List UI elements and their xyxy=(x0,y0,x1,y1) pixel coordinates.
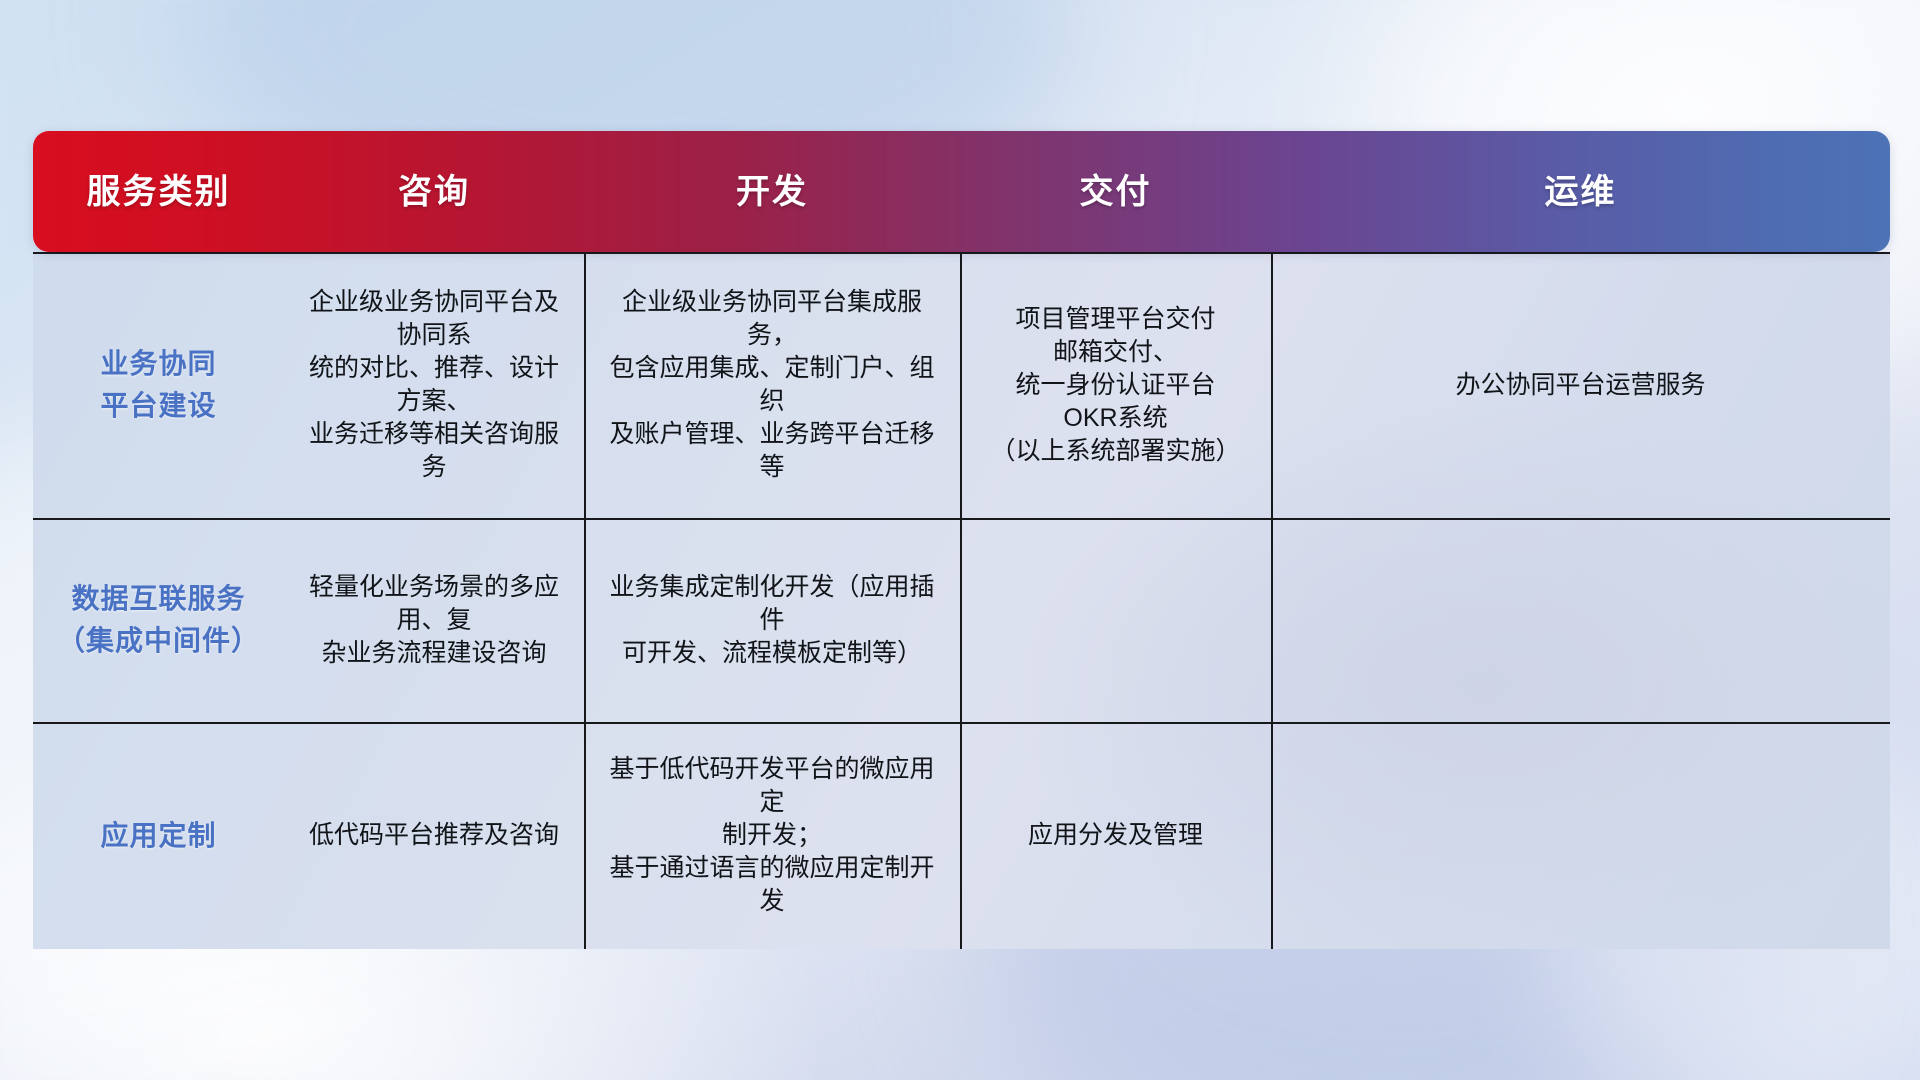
cell-operations: 办公协同平台运营服务 xyxy=(1271,252,1890,518)
table-row: 应用定制 低代码平台推荐及咨询 基于低代码开发平台的微应用定 制开发； 基于通过… xyxy=(33,722,1890,949)
column-header-consulting: 咨询 xyxy=(284,175,584,209)
column-header-development: 开发 xyxy=(584,175,960,209)
cell-development: 企业级业务协同平台集成服务， 包含应用集成、定制门户、组织 及账户管理、业务跨平… xyxy=(584,252,960,518)
cell-consulting: 低代码平台推荐及咨询 xyxy=(284,722,584,949)
category-label: 应用定制 xyxy=(100,815,216,857)
cell-operations xyxy=(1271,722,1890,949)
cell-operations xyxy=(1271,518,1890,722)
column-header-delivery: 交付 xyxy=(960,175,1271,209)
cell-development: 基于低代码开发平台的微应用定 制开发； 基于通过语言的微应用定制开发 xyxy=(584,722,960,949)
table-row: 数据互联服务 （集成中间件） 轻量化业务场景的多应用、复 杂业务流程建设咨询 业… xyxy=(33,518,1890,722)
cell-delivery: 应用分发及管理 xyxy=(960,722,1271,949)
slide-stage: 服务类别 咨询 开发 交付 运维 业务协同 平台建设 企业级业务协同平台及协同系… xyxy=(0,0,1920,1080)
table-body: 业务协同 平台建设 企业级业务协同平台及协同系 统的对比、推荐、设计方案、 业务… xyxy=(33,252,1890,949)
row-category-cell: 应用定制 xyxy=(33,722,284,949)
cell-development: 业务集成定制化开发（应用插件 可开发、流程模板定制等） xyxy=(584,518,960,722)
category-label: 业务协同 平台建设 xyxy=(100,343,216,427)
row-category-cell: 数据互联服务 （集成中间件） xyxy=(33,518,284,722)
column-header-category: 服务类别 xyxy=(33,175,284,209)
cell-delivery: 项目管理平台交付 邮箱交付、 统一身份认证平台 OKR系统 （以上系统部署实施） xyxy=(960,252,1271,518)
row-category-cell: 业务协同 平台建设 xyxy=(33,252,284,518)
column-header-operations: 运维 xyxy=(1271,175,1890,209)
category-label: 数据互联服务 （集成中间件） xyxy=(57,578,260,662)
cell-consulting: 企业级业务协同平台及协同系 统的对比、推荐、设计方案、 业务迁移等相关咨询服务 xyxy=(284,252,584,518)
table-row: 业务协同 平台建设 企业级业务协同平台及协同系 统的对比、推荐、设计方案、 业务… xyxy=(33,252,1890,518)
table-header-row: 服务类别 咨询 开发 交付 运维 xyxy=(33,131,1890,252)
cell-consulting: 轻量化业务场景的多应用、复 杂业务流程建设咨询 xyxy=(284,518,584,722)
cell-delivery xyxy=(960,518,1271,722)
service-matrix-table: 服务类别 咨询 开发 交付 运维 业务协同 平台建设 企业级业务协同平台及协同系… xyxy=(33,131,1890,949)
